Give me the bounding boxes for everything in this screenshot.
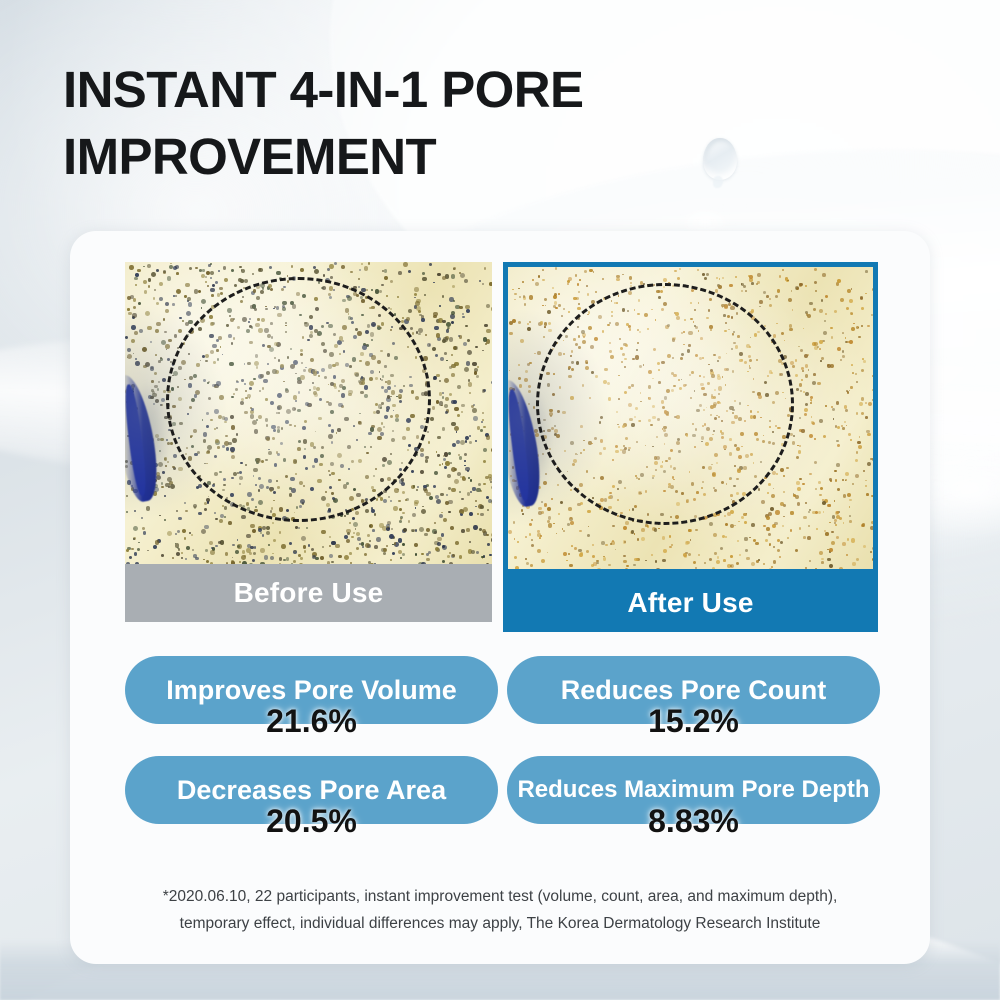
after-photo xyxy=(508,267,873,569)
stats-row-2: Decreases Pore Area 20.5% Reduces Maximu… xyxy=(125,756,880,824)
water-droplet-icon xyxy=(703,138,737,180)
page-title-line-2: IMPROVEMENT xyxy=(63,123,703,190)
footnote-line-1: *2020.06.10, 22 participants, instant im… xyxy=(70,883,930,910)
stat-pore-area-value: 20.5% xyxy=(125,803,498,840)
before-after-comparison: Before Use After Use xyxy=(125,262,878,622)
page-title: INSTANT 4-IN-1 PORE IMPROVEMENT xyxy=(63,56,703,191)
page-title-line-1: INSTANT 4-IN-1 PORE xyxy=(63,56,703,123)
stats-row-1: Improves Pore Volume 21.6% Reduces Pore … xyxy=(125,656,880,724)
before-column: Before Use xyxy=(125,262,492,622)
stat-pore-volume-label: Improves Pore Volume xyxy=(166,675,457,706)
stats-section: Improves Pore Volume 21.6% Reduces Pore … xyxy=(125,656,880,856)
after-label-text: After Use xyxy=(627,587,753,619)
stat-pore-area-label: Decreases Pore Area xyxy=(177,775,446,806)
after-photo-frame xyxy=(503,262,878,574)
before-photo xyxy=(125,262,492,564)
stat-pore-volume-value: 21.6% xyxy=(125,703,498,740)
content-card: Before Use After Use xyxy=(70,231,930,964)
stat-pore-count: Reduces Pore Count 15.2% xyxy=(507,656,880,724)
footnote: *2020.06.10, 22 participants, instant im… xyxy=(70,883,930,937)
before-label-bar: Before Use xyxy=(125,564,492,622)
before-label-text: Before Use xyxy=(234,577,384,609)
stat-pore-depth: Reduces Maximum Pore Depth 8.83% xyxy=(507,756,880,824)
after-label-bar: After Use xyxy=(503,574,878,632)
stat-pore-count-value: 15.2% xyxy=(507,703,880,740)
stat-pore-area: Decreases Pore Area 20.5% xyxy=(125,756,498,824)
stat-pore-count-label: Reduces Pore Count xyxy=(561,675,827,706)
before-pore-speckles xyxy=(125,262,492,564)
footnote-line-2: temporary effect, individual differences… xyxy=(70,910,930,937)
after-pore-speckles xyxy=(508,267,873,569)
after-column: After Use xyxy=(503,262,878,622)
stat-pore-depth-value: 8.83% xyxy=(507,803,880,840)
stat-pore-depth-label: Reduces Maximum Pore Depth xyxy=(517,776,869,804)
stat-pore-volume: Improves Pore Volume 21.6% xyxy=(125,656,498,724)
